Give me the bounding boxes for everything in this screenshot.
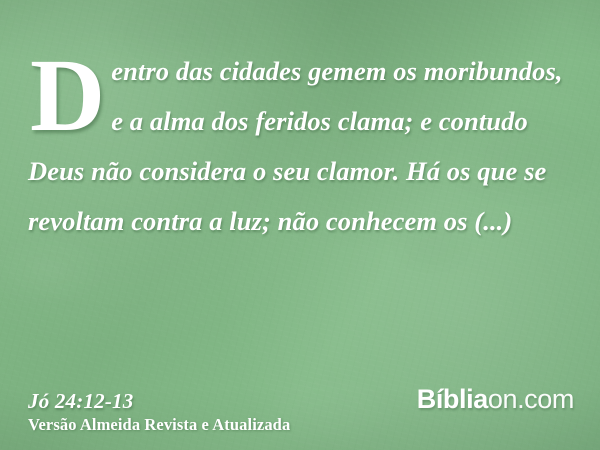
card-content: Dentro das cidades gemem os moribundos, … — [0, 0, 600, 450]
footer-attribution: Jó 24:12-13 Versão Almeida Revista e Atu… — [28, 388, 290, 436]
brand-logo-secondary: on.com — [488, 384, 574, 414]
brand-logo[interactable]: Bíbliaon.com — [417, 384, 574, 414]
verse-dropcap: D — [28, 48, 111, 137]
verse-reference: Jó 24:12-13 — [28, 388, 290, 414]
card-footer: Jó 24:12-13 Versão Almeida Revista e Atu… — [0, 364, 600, 450]
verse-card: Dentro das cidades gemem os moribundos, … — [0, 0, 600, 450]
brand-logo-primary: Bíblia — [417, 384, 488, 414]
bible-version-label: Versão Almeida Revista e Atualizada — [28, 414, 290, 436]
verse-text-block: Dentro das cidades gemem os moribundos, … — [28, 46, 576, 246]
verse-body-text: entro das cidades gemem os moribundos, e… — [28, 46, 576, 246]
